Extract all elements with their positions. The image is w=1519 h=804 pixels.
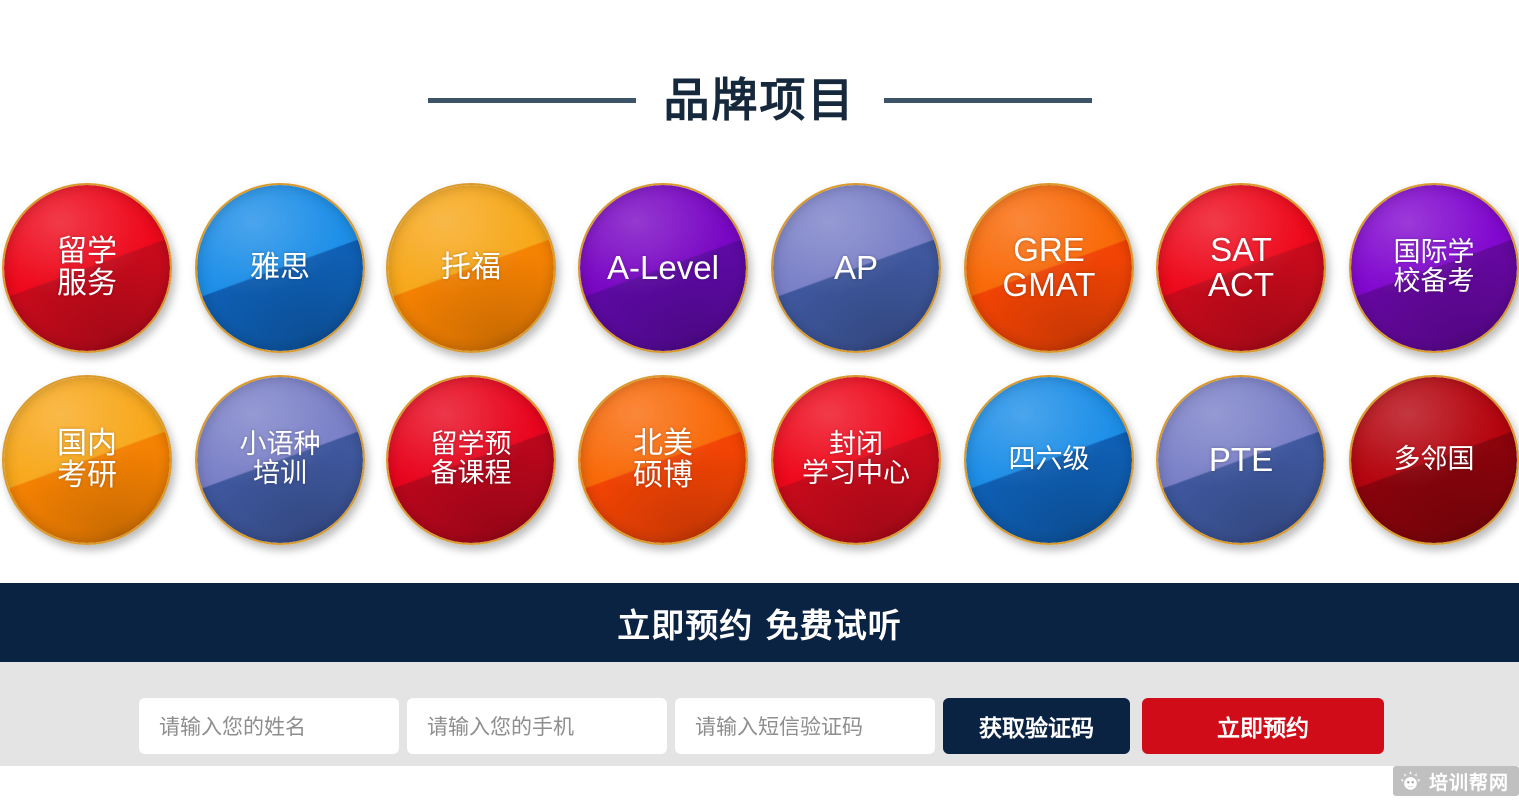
sun-face-icon — [1399, 770, 1422, 793]
program-row-1: 留学服务雅思托福A-LevelAPGREGMATSATACT国际学校备考 — [0, 178, 1519, 370]
program-circle-label: A-Level — [605, 251, 721, 286]
program-circle-label: 国际学校备考 — [1392, 239, 1477, 296]
program-circle-yasi[interactable]: 雅思 — [195, 183, 365, 353]
signup-form: 请输入您的姓名请输入您的手机请输入短信验证码获取验证码立即预约 — [139, 698, 1384, 754]
program-label-line: SAT — [1208, 233, 1274, 268]
program-circle-guonei-kaoyan[interactable]: 国内考研 — [2, 375, 172, 545]
program-circle-beimei-shuobo[interactable]: 北美硕博 — [578, 375, 748, 545]
program-circle-label: 封闭学习中心 — [800, 431, 912, 488]
program-label-line: 硕博 — [633, 460, 693, 492]
page-title: 品牌项目 — [664, 77, 856, 123]
program-label-line: 雅思 — [250, 252, 310, 284]
program-grid: 留学服务雅思托福A-LevelAPGREGMATSATACT国际学校备考 国内考… — [0, 178, 1519, 562]
name-input[interactable]: 请输入您的姓名 — [139, 698, 399, 754]
program-label-line: ACT — [1208, 268, 1274, 303]
program-circle-liuxue-fuwu[interactable]: 留学服务 — [2, 183, 172, 353]
program-label-line: PTE — [1209, 443, 1273, 478]
program-label-line: A-Level — [607, 251, 719, 286]
heading-rule-left — [428, 98, 636, 103]
program-circle-sat-act[interactable]: SATACT — [1156, 183, 1326, 353]
program-circle-a-level[interactable]: A-Level — [578, 183, 748, 353]
program-circle-xiaoyuzhong-peixun[interactable]: 小语种培训 — [195, 375, 365, 545]
program-circle-label: SATACT — [1206, 233, 1276, 303]
program-circle-gre-gmat[interactable]: GREGMAT — [964, 183, 1134, 353]
section-heading: 品牌项目 — [0, 62, 1519, 138]
program-label-line: 北美 — [633, 428, 693, 460]
program-label-line: 校备考 — [1394, 268, 1475, 297]
program-circle-label: 国内考研 — [55, 428, 119, 492]
program-circle-tuofu[interactable]: 托福 — [386, 183, 556, 353]
get-verification-code-button[interactable]: 获取验证码 — [943, 698, 1130, 754]
submit-booking-button[interactable]: 立即预约 — [1142, 698, 1384, 754]
program-circle-label: PTE — [1207, 443, 1275, 478]
program-label-line: 托福 — [441, 252, 501, 284]
program-row-2: 国内考研小语种培训留学预备课程北美硕博封闭学习中心四六级PTE多邻国 — [0, 370, 1519, 562]
program-label-line: 学习中心 — [802, 460, 910, 489]
program-circle-label: 留学预备课程 — [429, 431, 514, 488]
program-circle-fengbi-xuexi-zhongxin[interactable]: 封闭学习中心 — [771, 375, 941, 545]
watermark-text: 培训帮网 — [1429, 768, 1509, 795]
code-input[interactable]: 请输入短信验证码 — [675, 698, 935, 754]
program-label-line: 国内 — [57, 428, 117, 460]
program-label-line: 小语种 — [240, 431, 321, 460]
program-circle-ap[interactable]: AP — [771, 183, 941, 353]
program-label-line: GRE — [1003, 233, 1096, 268]
signup-form-strip: 请输入您的姓名请输入您的手机请输入短信验证码获取验证码立即预约 — [0, 662, 1519, 766]
program-circle-label: 小语种培训 — [238, 431, 323, 488]
program-label-line: 服务 — [57, 268, 117, 300]
program-label-line: 国际学 — [1394, 239, 1475, 268]
program-circle-label: 多邻国 — [1392, 446, 1477, 475]
cta-banner: 立即预约 免费试听 — [0, 583, 1519, 662]
program-label-line: 考研 — [57, 460, 117, 492]
site-watermark: 培训帮网 — [1393, 766, 1519, 796]
program-label-line: 留学 — [57, 236, 117, 268]
program-circle-label: 雅思 — [248, 252, 312, 284]
program-label-line: 多邻国 — [1394, 446, 1475, 475]
program-circle-label: AP — [832, 251, 880, 286]
program-circle-duolingguo[interactable]: 多邻国 — [1349, 375, 1519, 545]
program-circle-guoji-xuexiao-beikao[interactable]: 国际学校备考 — [1349, 183, 1519, 353]
program-circle-pte[interactable]: PTE — [1156, 375, 1326, 545]
program-circle-silu-liuji[interactable]: 四六级 — [964, 375, 1134, 545]
program-label-line: 封闭 — [802, 431, 910, 460]
program-circle-label: 留学服务 — [55, 236, 119, 300]
program-circle-liuxue-yubei-kecheng[interactable]: 留学预备课程 — [386, 375, 556, 545]
program-label-line: 培训 — [240, 460, 321, 489]
program-circle-label: 托福 — [439, 252, 503, 284]
program-label-line: GMAT — [1003, 268, 1096, 303]
program-label-line: AP — [834, 251, 878, 286]
heading-rule-right — [884, 98, 1092, 103]
program-circle-label: GREGMAT — [1001, 233, 1098, 303]
program-circle-label: 四六级 — [1007, 446, 1092, 475]
cta-title: 立即预约 免费试听 — [617, 599, 902, 647]
program-label-line: 四六级 — [1009, 446, 1090, 475]
program-label-line: 留学预 — [431, 431, 512, 460]
phone-input[interactable]: 请输入您的手机 — [407, 698, 667, 754]
program-label-line: 备课程 — [431, 460, 512, 489]
program-circle-label: 北美硕博 — [631, 428, 695, 492]
brand-programs-page: 品牌项目 留学服务雅思托福A-LevelAPGREGMATSATACT国际学校备… — [0, 0, 1519, 804]
